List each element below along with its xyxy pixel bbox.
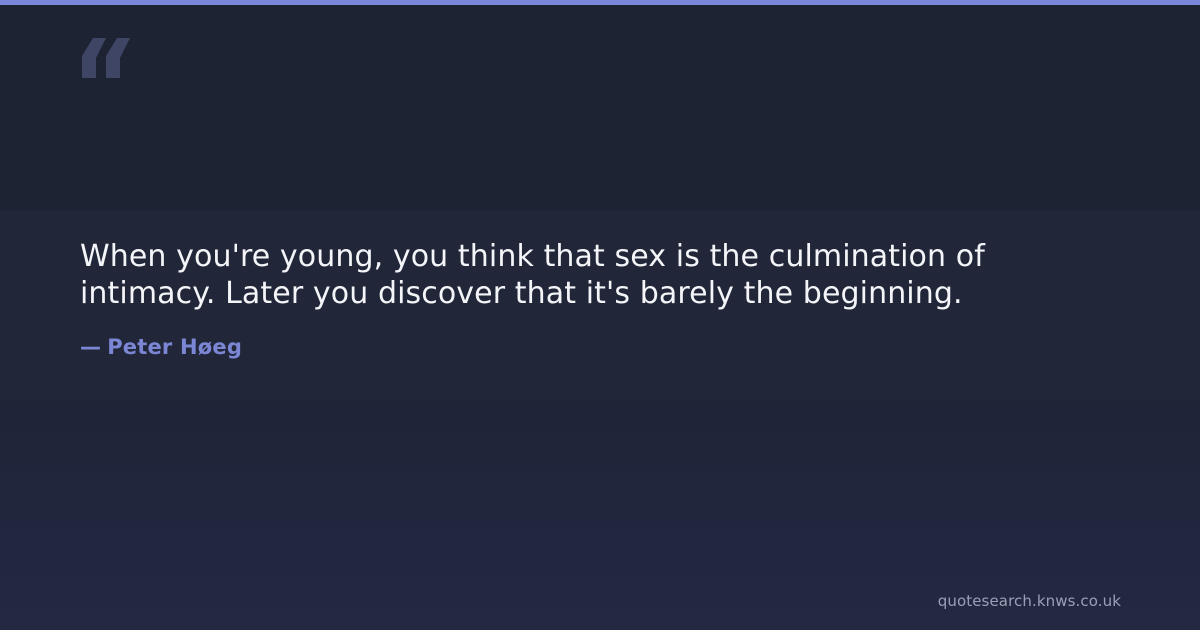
quote-content: When you're young, you think that sex is…	[80, 238, 1090, 360]
author-dash: —	[80, 334, 101, 360]
open-quote-icon	[80, 36, 140, 82]
top-accent-bar	[0, 0, 1200, 5]
site-watermark: quotesearch.knws.co.uk	[938, 592, 1121, 610]
quote-author: —Peter Høeg	[80, 312, 1090, 360]
quote-card: When you're young, you think that sex is…	[0, 0, 1200, 630]
author-name: Peter Høeg	[107, 335, 242, 359]
quote-text: When you're young, you think that sex is…	[80, 238, 1065, 312]
